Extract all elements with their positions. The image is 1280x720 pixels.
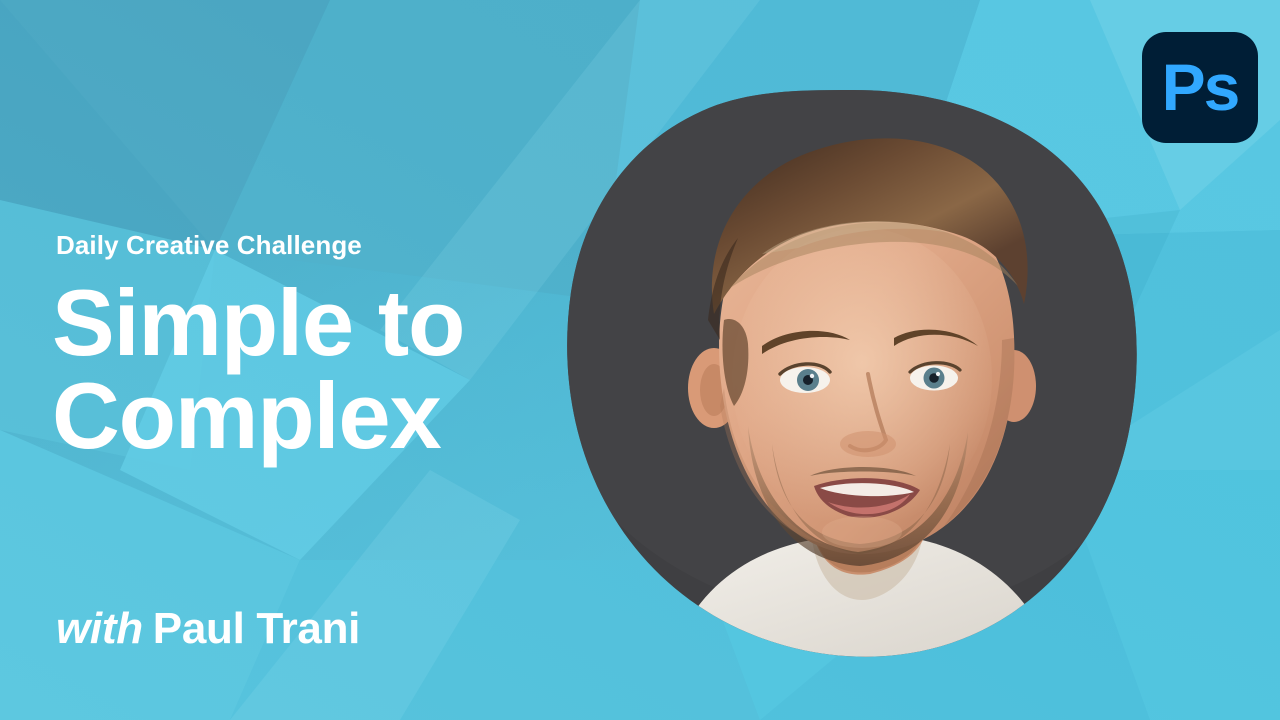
photoshop-ps-icon: Ps — [1162, 54, 1239, 120]
video-thumbnail: Daily Creative Challenge Simple to Compl… — [0, 0, 1280, 720]
host-portrait — [562, 88, 1144, 660]
photoshop-logo-icon: Ps — [1142, 32, 1258, 143]
